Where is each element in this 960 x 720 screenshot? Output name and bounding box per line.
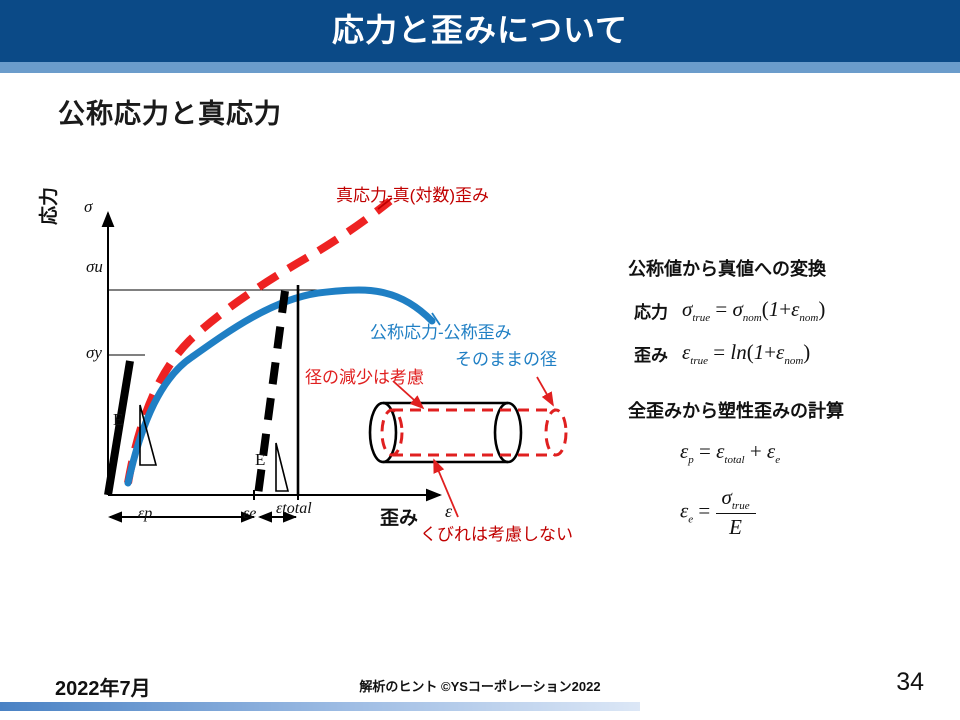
tick-label-sigma-y: σy [86, 343, 102, 363]
equation-elastic-formula: εe = σtrue E [680, 485, 756, 540]
callout-necking-ignored: くびれは考慮しない [420, 520, 573, 545]
x-axis-title: 歪み [380, 503, 418, 530]
callout-diameter-unchanged: そのままの径 [455, 345, 557, 370]
equation-strain-formula: εtrue = ln(1+εnom) [682, 340, 810, 367]
slide: 応力と歪みについて 公称応力と真応力 [0, 0, 960, 720]
modulus-triangle-unloading [276, 443, 288, 491]
header-accent-band [0, 62, 960, 73]
deformed-left-end [382, 410, 402, 455]
callout-diameter-reduction-considered: 径の減少は考慮 [305, 363, 424, 388]
footer-credit: 解析のヒント ©YSコーポレーション2022 [0, 676, 960, 695]
modulus-label-unloading: E [255, 450, 265, 470]
deformed-specimen-body [392, 410, 556, 455]
page-title: 応力と歪みについて [0, 8, 960, 52]
footer-page-number: 34 [896, 668, 924, 697]
callout-nominal-stress-strain: 公称応力-公称歪み [370, 318, 512, 343]
specimen-right-end [495, 403, 521, 462]
tick-label-sigma-u: σu [86, 257, 103, 277]
footer-accent-bar [0, 702, 640, 711]
true-stress-curve [128, 201, 390, 483]
equation-tag-strain: 歪み [634, 341, 668, 366]
stress-strain-chart: 応力 σ 歪み ε σu σy E E εp εe εtotal 真応力-真(対… [40, 165, 620, 565]
equation-tag-stress: 応力 [634, 298, 668, 323]
equation-row-elastic: εe = σtrue E [628, 485, 948, 540]
deformed-right-end [546, 410, 566, 455]
equation-row-strain: 歪み εtrue = ln(1+εnom) [628, 340, 948, 367]
specimen-left-end [370, 403, 396, 462]
elastic-strain-label: εe [243, 505, 256, 523]
equation-row-stress: 応力 σtrue = σnom(1+εnom) [628, 297, 948, 324]
equation-row-plastic: εp = εtotal + εe [628, 439, 948, 466]
section-subtitle: 公称応力と真応力 [58, 92, 282, 131]
y-axis-title: 応力 [34, 187, 61, 225]
leader-diameter-asis [537, 377, 553, 405]
total-strain-label: εtotal [276, 500, 324, 517]
equation-stress-formula: σtrue = σnom(1+εnom) [682, 297, 825, 324]
x-axis-symbol: ε [445, 501, 452, 522]
equation-plastic-formula: εp = εtotal + εe [680, 439, 780, 466]
y-axis-symbol: σ [84, 197, 92, 217]
plastic-strain-label: εp [138, 505, 152, 523]
equations-heading-plastic: 全歪みから塑性歪みの計算 [628, 397, 948, 423]
modulus-label-loading: E [113, 410, 123, 430]
equations-heading-conversion: 公称値から真値への変換 [628, 255, 948, 281]
equations-panel: 公称値から真値への変換 応力 σtrue = σnom(1+εnom) 歪み ε… [628, 255, 948, 540]
callout-true-stress-strain: 真応力-真(対数)歪み [336, 181, 489, 206]
